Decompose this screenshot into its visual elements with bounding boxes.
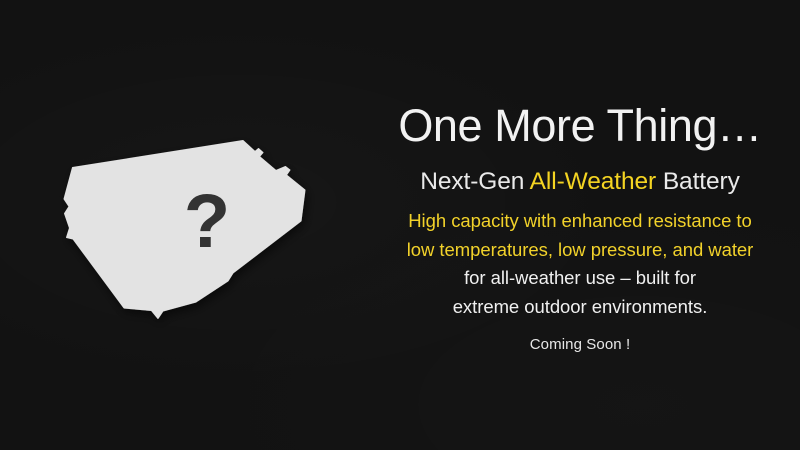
body-copy: High capacity with enhanced resistance t… [360, 207, 800, 321]
product-silhouette: ? [0, 0, 360, 450]
subheadline-prefix: Next-Gen [420, 168, 529, 195]
subheadline: Next-Gen All-Weather Battery [360, 167, 800, 197]
body-copy-line: extreme outdoor environments. [360, 293, 800, 322]
subheadline-accent: All-Weather [530, 168, 656, 195]
copy-column: One More Thing… Next-Gen All-Weather Bat… [360, 0, 800, 450]
presentation-slide: ? One More Thing… Next-Gen All-Weather B… [0, 0, 800, 450]
coming-soon-note: Coming Soon ! [360, 335, 800, 355]
body-copy-line: low temperatures, low pressure, and wate… [360, 236, 800, 265]
subheadline-suffix: Battery [656, 168, 740, 195]
headline: One More Thing… [360, 101, 800, 151]
mystery-question-mark: ? [162, 176, 252, 268]
body-copy-line: High capacity with enhanced resistance t… [360, 207, 800, 236]
body-copy-line: for all-weather use – built for [360, 264, 800, 293]
